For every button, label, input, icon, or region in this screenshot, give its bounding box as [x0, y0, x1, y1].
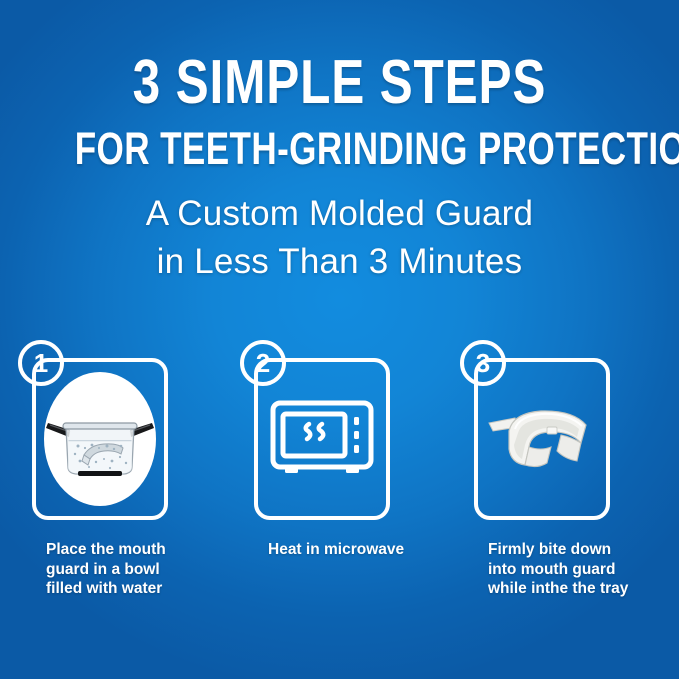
step-1-caption: Place the mouth guard in a bowl filled w… [46, 540, 226, 599]
pot-of-water-icon [44, 401, 156, 479]
step-item-2: 2 Heat in microwave [242, 358, 442, 520]
step-2-illustration [258, 362, 386, 516]
subheadline-block: A Custom Molded Guard in Less Than 3 Min… [0, 190, 679, 286]
step-3-number: 3 [464, 344, 502, 382]
step-3-illustration [478, 362, 606, 516]
step-2-caption: Heat in microwave [268, 540, 448, 560]
headline-block: 3 SIMPLE STEPS FOR TEETH-GRINDING PROTEC… [0, 52, 679, 172]
step-1-badge: 1 [18, 340, 64, 386]
subheadline-line-2: in Less Than 3 Minutes [0, 238, 679, 286]
step-2-number: 2 [244, 344, 282, 382]
steps-row: 1 Place the mouth guard in a bowl filled… [0, 358, 679, 608]
step-1-illustration [36, 362, 164, 516]
step-3-caption-line-3: while inthe the tray [488, 579, 668, 599]
step-item-3: 3 Firmly bite down into mouth guard whil… [462, 358, 662, 520]
step-3-badge: 3 [460, 340, 506, 386]
step-2-frame-wrap: 2 [254, 358, 390, 520]
step-1-caption-line-2: guard in a bowl [46, 560, 226, 580]
step-3-caption-line-1: Firmly bite down [488, 540, 668, 560]
poster-canvas: 3 SIMPLE STEPS FOR TEETH-GRINDING PROTEC… [0, 0, 679, 679]
headline-secondary: FOR TEETH-GRINDING PROTECTION [75, 126, 605, 172]
step-2-badge: 2 [240, 340, 286, 386]
step-3-caption-line-2: into mouth guard [488, 560, 668, 580]
step-2-caption-line-1: Heat in microwave [268, 540, 448, 560]
step-1-number: 1 [22, 344, 60, 382]
microwave-icon [270, 399, 374, 479]
step-3-frame-wrap: 3 [474, 358, 610, 520]
subheadline-line-1: A Custom Molded Guard [0, 190, 679, 238]
step-3-caption: Firmly bite down into mouth guard while … [488, 540, 668, 599]
step-1-caption-line-1: Place the mouth [46, 540, 226, 560]
step-1-caption-line-3: filled with water [46, 579, 226, 599]
mouth-guard-icon [485, 401, 599, 477]
headline-primary: 3 SIMPLE STEPS [68, 52, 611, 114]
step-item-1: 1 Place the mouth guard in a bowl filled… [20, 358, 220, 520]
step-1-frame-wrap: 1 [32, 358, 168, 520]
